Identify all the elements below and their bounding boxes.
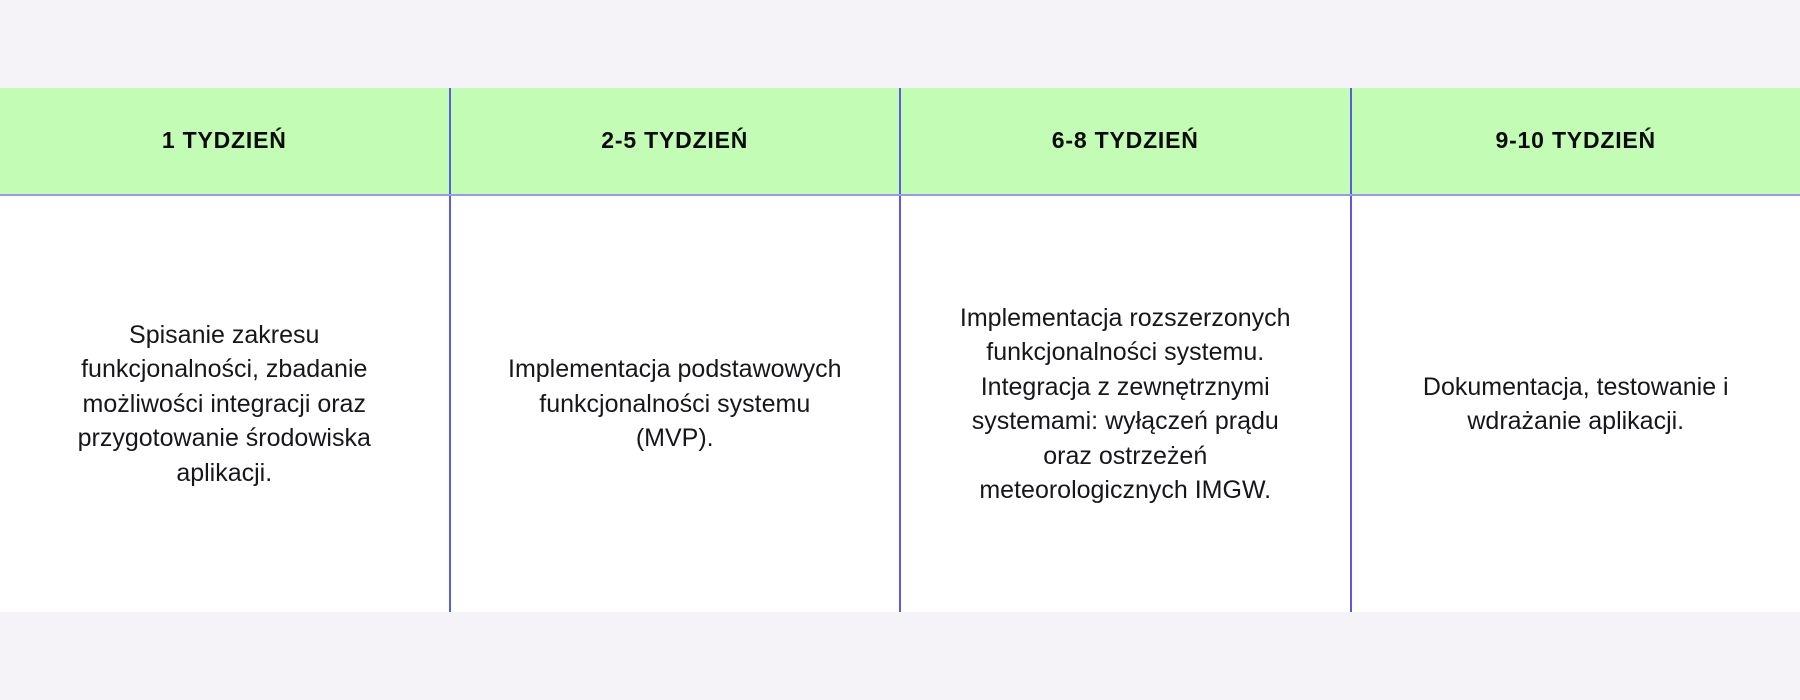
table-body-cell-3: Implementacja rozszerzonych funkcjonalno…: [901, 196, 1352, 612]
project-timeline-table: 1 TYDZIEŃ 2-5 TYDZIEŃ 6-8 TYDZIEŃ 9-10 T…: [0, 88, 1800, 612]
table-body-cell-1: Spisanie zakresu funkcjonalności, zbadan…: [0, 196, 451, 612]
page-root: 1 TYDZIEŃ 2-5 TYDZIEŃ 6-8 TYDZIEŃ 9-10 T…: [0, 0, 1800, 700]
table-header-row: 1 TYDZIEŃ 2-5 TYDZIEŃ 6-8 TYDZIEŃ 9-10 T…: [0, 88, 1800, 196]
column-header-label: 9-10 TYDZIEŃ: [1496, 127, 1656, 155]
column-body-text: Implementacja podstawowych funkcjonalnoś…: [505, 352, 845, 456]
column-body-text: Spisanie zakresu funkcjonalności, zbadan…: [54, 318, 394, 491]
table-header-cell-2: 2-5 TYDZIEŃ: [451, 88, 902, 194]
column-header-label: 1 TYDZIEŃ: [162, 127, 287, 155]
table-body-cell-4: Dokumentacja, testowanie i wdrażanie apl…: [1352, 196, 1800, 612]
table-header-cell-1: 1 TYDZIEŃ: [0, 88, 451, 194]
table-body-cell-2: Implementacja podstawowych funkcjonalnoś…: [451, 196, 902, 612]
table-body-row: Spisanie zakresu funkcjonalności, zbadan…: [0, 196, 1800, 612]
table-header-cell-3: 6-8 TYDZIEŃ: [901, 88, 1352, 194]
column-header-label: 2-5 TYDZIEŃ: [601, 127, 748, 155]
column-body-text: Implementacja rozszerzonych funkcjonalno…: [955, 301, 1295, 508]
column-header-label: 6-8 TYDZIEŃ: [1052, 127, 1199, 155]
column-body-text: Dokumentacja, testowanie i wdrażanie apl…: [1406, 370, 1746, 439]
table-header-cell-4: 9-10 TYDZIEŃ: [1352, 88, 1800, 194]
